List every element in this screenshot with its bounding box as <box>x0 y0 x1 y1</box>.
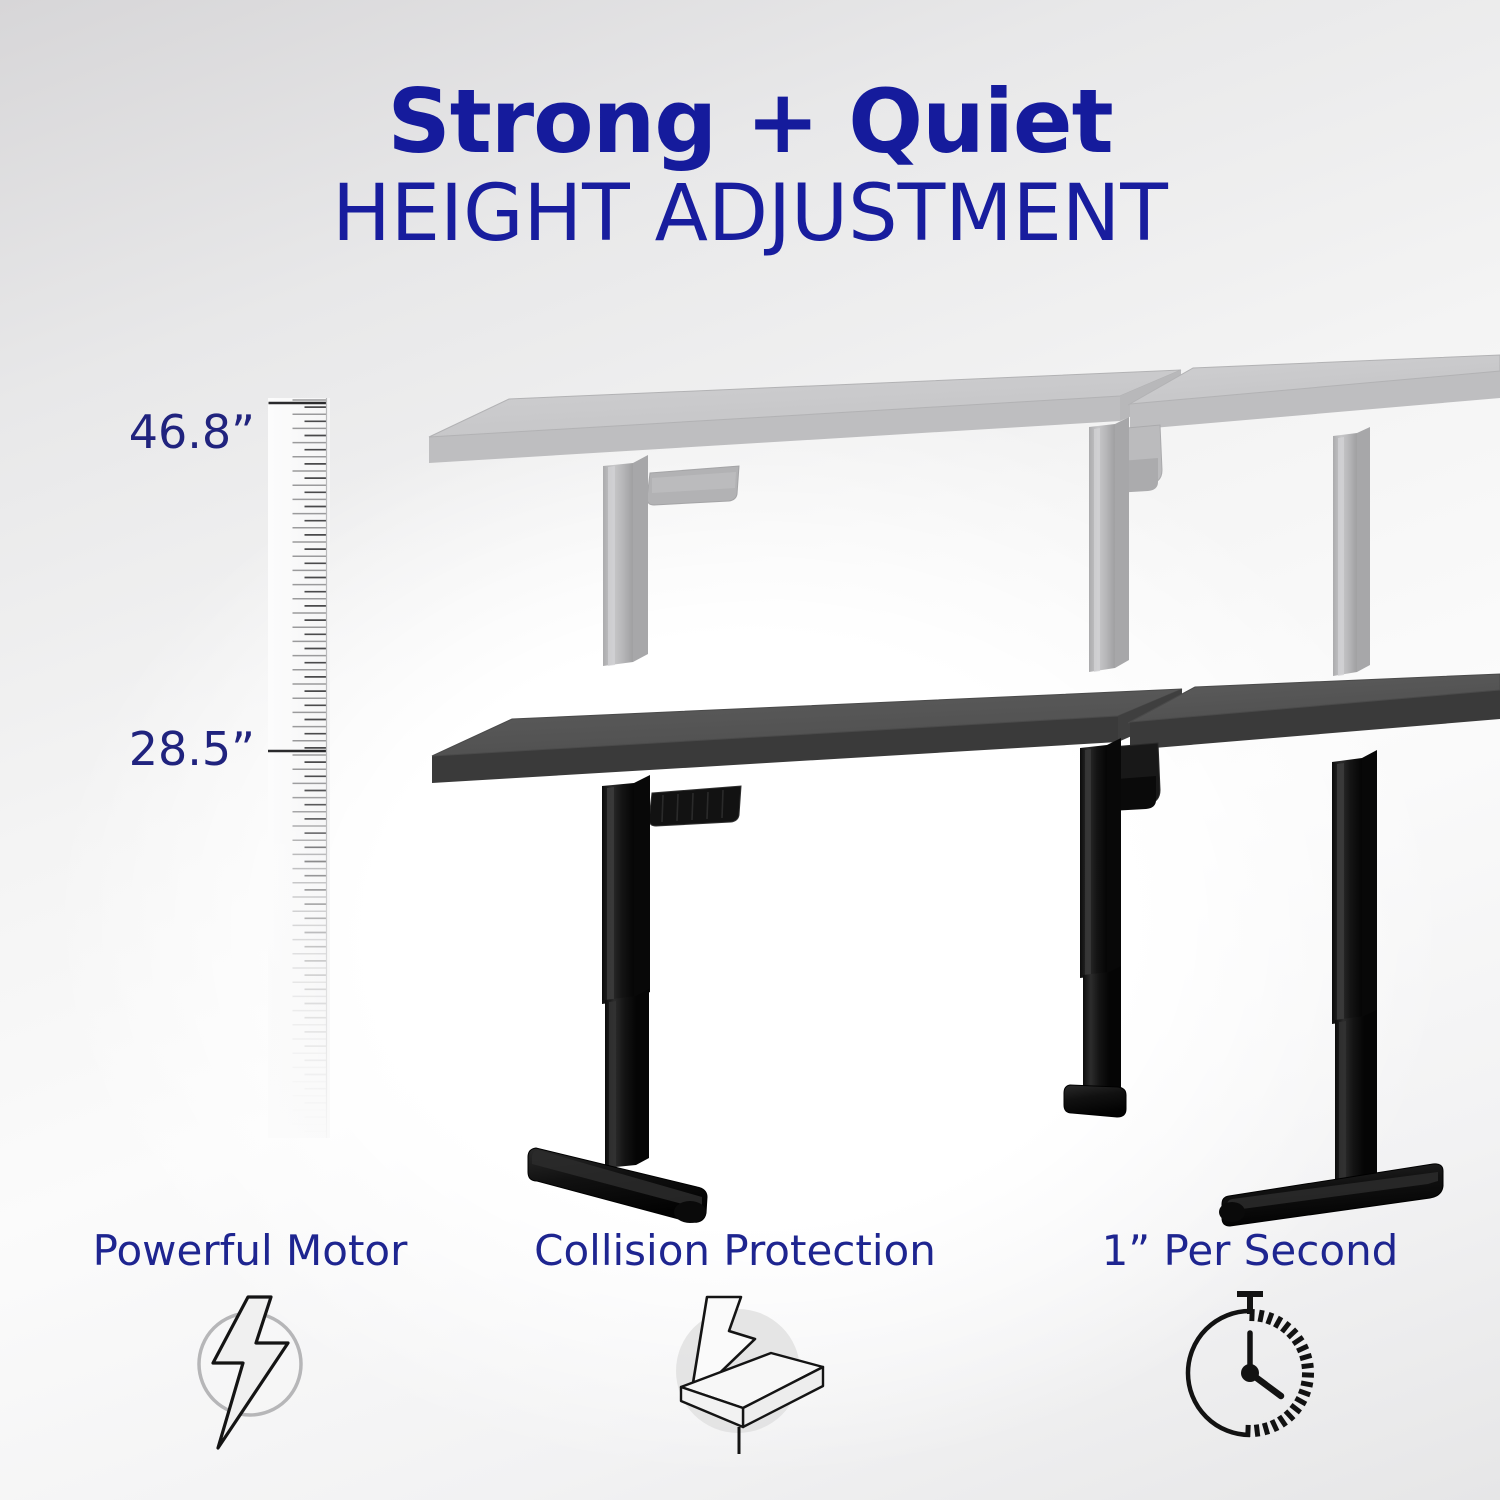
feature-label: 1” Per Second <box>1020 1228 1480 1274</box>
lowered-leg-left <box>528 775 707 1223</box>
raised-corner-bracket <box>1102 425 1162 493</box>
lowered-corner-bracket <box>1098 743 1160 811</box>
lowered-foot-left <box>528 1148 707 1223</box>
feature-label: Collision Protection <box>505 1228 965 1274</box>
infographic-canvas: Strong + Quiet HEIGHT ADJUSTMENT 46.8” 2… <box>0 0 1500 1500</box>
lowered-leg-corner <box>1064 738 1126 1117</box>
raised-leg-corner <box>1089 417 1129 672</box>
raised-desk-right-top <box>1128 355 1500 430</box>
headline-block: Strong + Quiet HEIGHT ADJUSTMENT <box>0 78 1500 256</box>
lowered-desk-right-top <box>1128 674 1500 750</box>
page-subtitle: HEIGHT ADJUSTMENT <box>0 174 1500 256</box>
stopwatch-icon <box>1020 1288 1480 1458</box>
lowered-leg-right <box>1219 750 1443 1226</box>
control-keypad[interactable] <box>649 786 741 826</box>
lowered-desk-left-top <box>432 689 1182 783</box>
feature-powerful-motor: Powerful Motor <box>20 1228 480 1458</box>
lowered-foot-corner <box>1064 1085 1126 1117</box>
raised-control-keypad <box>647 466 739 505</box>
feature-label: Powerful Motor <box>20 1228 480 1274</box>
raised-desk-ghost <box>429 355 1500 676</box>
max-height-label: 46.8” <box>40 405 255 459</box>
raised-leg-right <box>1333 427 1370 676</box>
lightning-bolt-icon <box>20 1288 480 1458</box>
feature-collision-protection: Collision Protection <box>505 1228 965 1458</box>
desk-collision-icon <box>505 1288 965 1458</box>
page-title: Strong + Quiet <box>0 78 1500 166</box>
raised-desk-left-top <box>429 370 1181 463</box>
lowered-desk <box>432 674 1500 1226</box>
raised-leg-left <box>603 455 648 666</box>
min-height-label: 28.5” <box>40 722 255 776</box>
feature-speed: 1” Per Second <box>1020 1228 1480 1458</box>
lowered-foot-right <box>1219 1164 1443 1226</box>
height-ruler <box>268 398 330 1138</box>
